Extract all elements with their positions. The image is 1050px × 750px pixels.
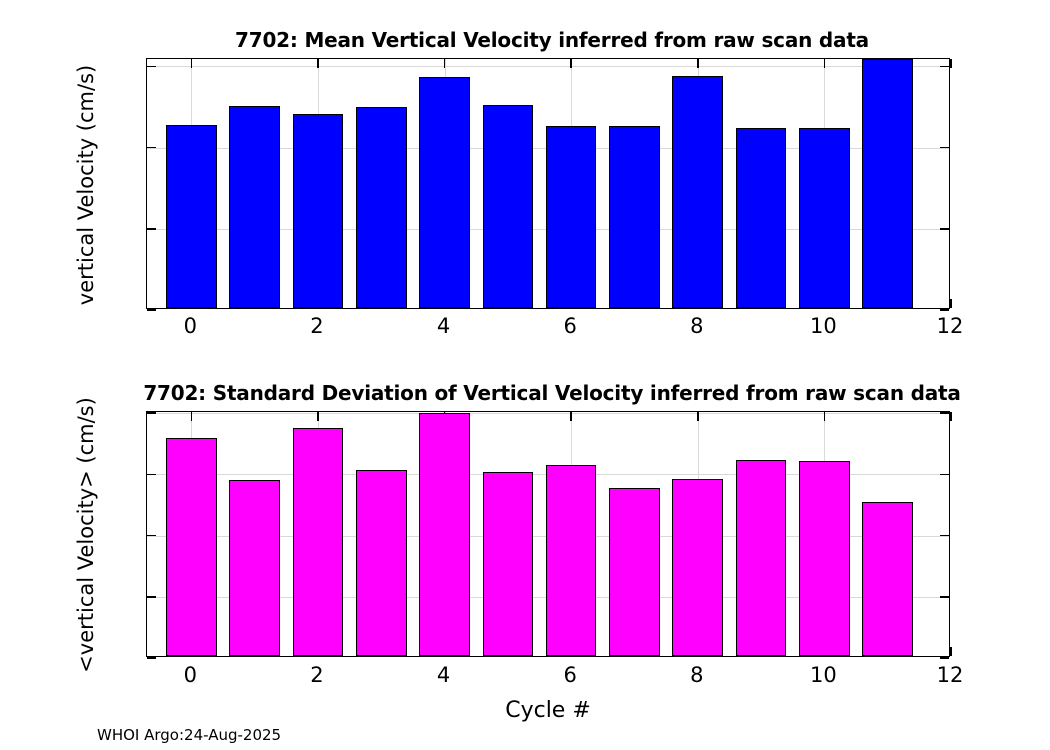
x-tick-label: 2 bbox=[287, 663, 347, 687]
y-tick-mark bbox=[940, 309, 949, 311]
x-tick-mark bbox=[950, 412, 952, 421]
y-tick-mark bbox=[940, 228, 949, 230]
y-tick-mark bbox=[940, 657, 949, 659]
bar bbox=[356, 107, 407, 308]
x-tick-mark bbox=[317, 59, 319, 68]
x-tick-label: 12 bbox=[920, 314, 980, 338]
y-tick-mark bbox=[940, 474, 949, 476]
y-tick-mark bbox=[147, 66, 156, 68]
y-tick-mark bbox=[940, 147, 949, 149]
x-tick-label: 0 bbox=[160, 314, 220, 338]
bar bbox=[736, 128, 787, 308]
x-tick-mark bbox=[570, 412, 572, 421]
x-tick-mark bbox=[317, 412, 319, 421]
x-tick-mark bbox=[570, 59, 572, 68]
x-tick-mark bbox=[824, 59, 826, 68]
y-gridline bbox=[147, 66, 949, 67]
x-tick-label: 6 bbox=[540, 314, 600, 338]
y-tick-mark bbox=[147, 228, 156, 230]
y-gridline bbox=[147, 413, 949, 414]
y-tick-mark bbox=[147, 309, 156, 311]
bar bbox=[672, 479, 723, 656]
bar bbox=[736, 460, 787, 656]
y-tick-mark bbox=[147, 657, 156, 659]
y-axis-label-top: vertical Velocity (cm/s) bbox=[74, 65, 98, 305]
x-tick-label: 12 bbox=[920, 663, 980, 687]
bar bbox=[229, 106, 280, 308]
y-tick-mark bbox=[940, 535, 949, 537]
chart-title-bottom: 7702: Standard Deviation of Vertical Vel… bbox=[0, 381, 1050, 405]
y-tick-mark bbox=[147, 147, 156, 149]
x-tick-mark bbox=[697, 59, 699, 68]
x-tick-mark bbox=[191, 59, 193, 68]
bar bbox=[799, 128, 850, 308]
x-axis-label: Cycle # bbox=[0, 698, 1050, 723]
x-tick-label: 10 bbox=[793, 314, 853, 338]
x-tick-label: 0 bbox=[160, 663, 220, 687]
y-tick-mark bbox=[940, 596, 949, 598]
x-tick-label: 10 bbox=[793, 663, 853, 687]
x-tick-mark bbox=[824, 412, 826, 421]
plot-area-top bbox=[146, 58, 950, 309]
x-tick-label: 4 bbox=[414, 663, 474, 687]
y-tick-mark bbox=[147, 596, 156, 598]
bar bbox=[862, 502, 913, 656]
x-tick-mark bbox=[191, 412, 193, 421]
bar bbox=[293, 428, 344, 656]
chart-title-top: 7702: Mean Vertical Velocity inferred fr… bbox=[0, 28, 1050, 52]
bar bbox=[166, 125, 217, 308]
bar bbox=[862, 59, 913, 308]
y-tick-mark bbox=[147, 412, 156, 414]
x-tick-mark bbox=[950, 299, 952, 308]
y-tick-mark bbox=[940, 412, 949, 414]
bar bbox=[229, 480, 280, 656]
plot-area-bottom bbox=[146, 411, 950, 657]
bar bbox=[609, 126, 660, 308]
bar bbox=[672, 76, 723, 308]
bar bbox=[799, 461, 850, 656]
bar bbox=[546, 126, 597, 308]
x-tick-mark bbox=[444, 59, 446, 68]
bar bbox=[546, 465, 597, 656]
y-tick-mark bbox=[147, 535, 156, 537]
x-tick-label: 8 bbox=[667, 314, 727, 338]
x-tick-label: 8 bbox=[667, 663, 727, 687]
x-tick-label: 2 bbox=[287, 314, 347, 338]
y-tick-mark bbox=[147, 474, 156, 476]
y-axis-label-bottom: <vertical Velocity> (cm/s) bbox=[74, 397, 98, 673]
bar bbox=[419, 413, 470, 656]
footer-credit: WHOI Argo:24-Aug-2025 bbox=[97, 726, 281, 744]
bar bbox=[166, 438, 217, 656]
x-tick-mark bbox=[950, 59, 952, 68]
y-tick-mark bbox=[940, 66, 949, 68]
bar bbox=[293, 114, 344, 308]
x-tick-label: 4 bbox=[414, 314, 474, 338]
figure-canvas: 7702: Mean Vertical Velocity inferred fr… bbox=[0, 0, 1050, 750]
bar bbox=[419, 77, 470, 309]
x-tick-label: 6 bbox=[540, 663, 600, 687]
bar bbox=[483, 472, 534, 656]
x-tick-mark bbox=[697, 412, 699, 421]
x-tick-mark bbox=[950, 647, 952, 656]
bar bbox=[483, 105, 534, 308]
bar bbox=[356, 470, 407, 656]
bar bbox=[609, 488, 660, 656]
